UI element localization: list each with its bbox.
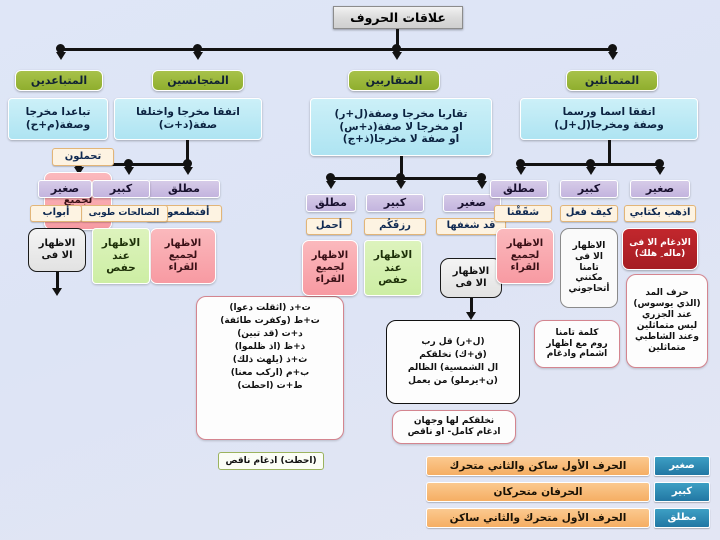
type-motaqaribin-motlaq[interactable]: مطلق xyxy=(306,194,356,212)
type-motajanisin-saghir[interactable]: صغير xyxy=(38,180,92,198)
bus-arrow-1 xyxy=(56,52,66,60)
motaqaribin-arrow-3 xyxy=(477,181,487,189)
motajanisin-detail-arrow xyxy=(52,288,62,296)
example-motajanisin-kabir: الصالحات طوبى xyxy=(80,205,168,222)
example-motajanisin-saghir: أبواب xyxy=(30,205,82,222)
description-motajanisin: اتفقا مخرجا واختلفاصفة(د+ت) xyxy=(114,98,262,140)
detail-motaqaribin-list: (ل+ر) قل رب(ق+ك) نخلقكمال الشمسية) الظال… xyxy=(386,320,520,404)
bus-arrow-2 xyxy=(193,52,203,60)
note-motajanisin: (احطت) ادغام ناقص xyxy=(218,452,324,470)
motajanisin-arrow-3 xyxy=(183,167,193,175)
note-motamathilin-kalima: كلمة تامناروم مع اظهاراشمام وادغام xyxy=(534,320,620,368)
ruling-motaqaribin-motlaq: الاظهارلجميعالقراء xyxy=(302,240,358,296)
legend-key-motlaq: مطلق xyxy=(654,508,710,528)
legend-key-saghir: صغير xyxy=(654,456,710,476)
description-motamathilin: اتفقا اسما ورسماوصفة ومخرجا(ل+ل) xyxy=(520,98,698,140)
description-motabaedin: تباعدا مخرجاوصفة(م+ح) xyxy=(8,98,108,140)
note-motaqaribin: نخلقكم لها وجهانادغام كامل- او ناقص xyxy=(392,410,516,444)
type-motaqaribin-kabir[interactable]: كبير xyxy=(366,194,424,212)
category-motaqaribin[interactable]: المتقاربين xyxy=(348,70,440,91)
category-motajanisin[interactable]: المتجانسين xyxy=(152,70,244,91)
legend-value-saghir: الحرف الأول ساكن والثاني متحرك xyxy=(426,456,650,476)
motamathilin-arrow-3 xyxy=(655,167,665,175)
ruling-motamathilin-motlaq: الاظهارلجميعالقراء xyxy=(496,228,554,284)
ruling-motajanisin-motlaq: الاظهارلجميعالقراء xyxy=(150,228,216,284)
detail-motajanisin-list: ت+د (اثقلت دعوا)ت+ط (وكفرت طائفة)د+ت (قد… xyxy=(196,296,344,440)
example-motamathilin-motlaq: شقَقْنا xyxy=(494,205,552,222)
motamathilin-arrow-2 xyxy=(586,167,596,175)
bus-arrow-4 xyxy=(608,52,618,60)
legend-value-motlaq: الحرف الأول متحرك والثاني ساكن xyxy=(426,508,650,528)
bus-arrow-3 xyxy=(392,52,402,60)
description-motaqaribin: تقاربا مخرجا وصفة(ل+ر)او مخرجا لا صفة(د+… xyxy=(310,98,492,156)
example-motamathilin-kabir: كيف فعل xyxy=(560,205,618,222)
example-motabaedin: تحملون xyxy=(52,148,114,166)
type-motamathilin-kabir[interactable]: كبير xyxy=(560,180,618,198)
motajanisin-arrow-2 xyxy=(124,167,134,175)
level1-bus xyxy=(60,48,613,51)
ruling-motaqaribin-saghir: الاظهارالا فى xyxy=(440,258,502,298)
category-motamathilin[interactable]: المتماثلين xyxy=(566,70,658,91)
ruling-motamathilin-saghir: الادغام الا فى(ماله ِ هلك) xyxy=(622,228,698,270)
ruling-motaqaribin-kabir: الاظهارعندحفص xyxy=(364,240,422,296)
legend-key-kabir: كبير xyxy=(654,482,710,502)
example-motamathilin-saghir: اذهب بكتابي xyxy=(624,205,696,222)
legend-value-kabir: الحرفان متحركان xyxy=(426,482,650,502)
ruling-motajanisin-kabir: الاظهارعندحفص xyxy=(92,228,150,284)
diagram-title: علاقات الحروف xyxy=(333,6,463,29)
motaqaribin-arrow-1 xyxy=(326,181,336,189)
motaqaribin-bus xyxy=(330,177,482,180)
example-motaqaribin-kabir: رزقَكُم xyxy=(364,218,426,235)
note-madd: حرف المد(الذي يوسوس)عند الجزريليس متماثل… xyxy=(626,274,708,368)
type-motajanisin-kabir[interactable]: كبير xyxy=(92,180,150,198)
motamathilin-stem xyxy=(608,140,611,164)
ruling-motajanisin-saghir: الاظهارالا فى xyxy=(28,228,86,272)
type-motamathilin-motlaq[interactable]: مطلق xyxy=(490,180,548,198)
diagram-canvas: علاقات الحروف المتباعدين المتجانسين المت… xyxy=(0,0,720,540)
type-motajanisin-motlaq[interactable]: مطلق xyxy=(148,180,220,198)
motamathilin-arrow-1 xyxy=(516,167,526,175)
type-motamathilin-saghir[interactable]: صغير xyxy=(630,180,690,198)
motaqaribin-arrow-2 xyxy=(396,181,406,189)
category-motabaedin[interactable]: المتباعدين xyxy=(15,70,103,91)
example-motaqaribin-motlaq: أحمل xyxy=(306,218,352,235)
ruling-motamathilin-kabir: الاظهارالا فىتامنامكننيأتحاجوني xyxy=(560,228,618,308)
motaqaribin-detail-arrow xyxy=(466,312,476,320)
